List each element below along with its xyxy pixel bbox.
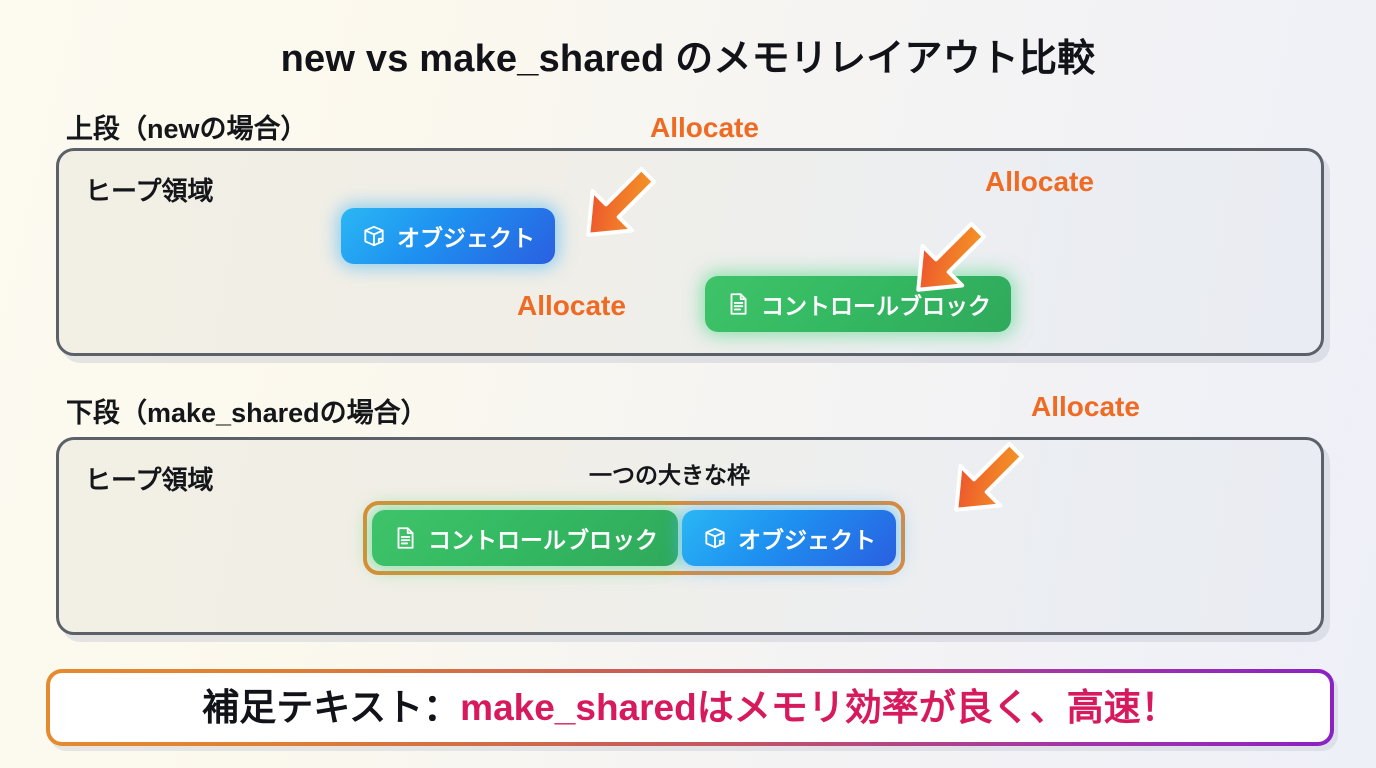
allocate-label-2: Allocate [985,166,1094,198]
section-caption-bottom: 下段（make_sharedの場合） [66,391,428,430]
chip-control-block-bottom-label: コントロールブロック [428,521,658,555]
footer-highlight-text: make_sharedはメモリ効率が良く、高速！ [460,689,1178,726]
heap-panel-top: ヒープ領域 オブジェクト [56,148,1324,356]
heap-panel-bottom: ヒープ領域 一つの大きな枠 コントロールブロック [56,437,1324,635]
slide-canvas: new vs make_shared のメモリレイアウト比較 上段（newの場合… [0,0,1376,768]
chip-object-top[interactable]: オブジェクト [341,208,555,264]
chip-object-bottom-label: オブジェクト [738,521,876,555]
chip-control-block-bottom[interactable]: コントロールブロック [372,510,678,566]
chip-object-bottom[interactable]: オブジェクト [682,510,896,566]
cube-icon [361,223,387,249]
cube-icon [702,525,728,551]
allocate-arrow-3 [938,432,1034,528]
chip-object-top-label: オブジェクト [397,219,535,253]
page-title: new vs make_shared のメモリレイアウト比較 [0,27,1376,82]
allocate-arrow-2 [900,212,996,308]
footer-banner: 補足テキスト： make_sharedはメモリ効率が良く、高速！ [46,669,1334,746]
combined-allocation-group: コントロールブロック オブジェクト [363,501,905,575]
allocate-arrow-1 [570,157,666,253]
section-caption-top: 上段（newの場合） [66,107,308,146]
document-icon [725,291,751,317]
single-frame-caption: 一つの大きな枠 [589,456,750,490]
footer-prefix-text: 補足テキスト： [202,689,460,726]
allocate-label-1: Allocate [650,112,759,144]
document-icon [392,525,418,551]
heap-label-top: ヒープ領域 [85,171,213,208]
heap-label-bottom: ヒープ領域 [85,460,213,497]
allocate-label-3: Allocate [517,290,626,322]
allocate-label-4: Allocate [1031,391,1140,423]
footer-inner: 補足テキスト： make_sharedはメモリ効率が良く、高速！ [50,673,1330,742]
